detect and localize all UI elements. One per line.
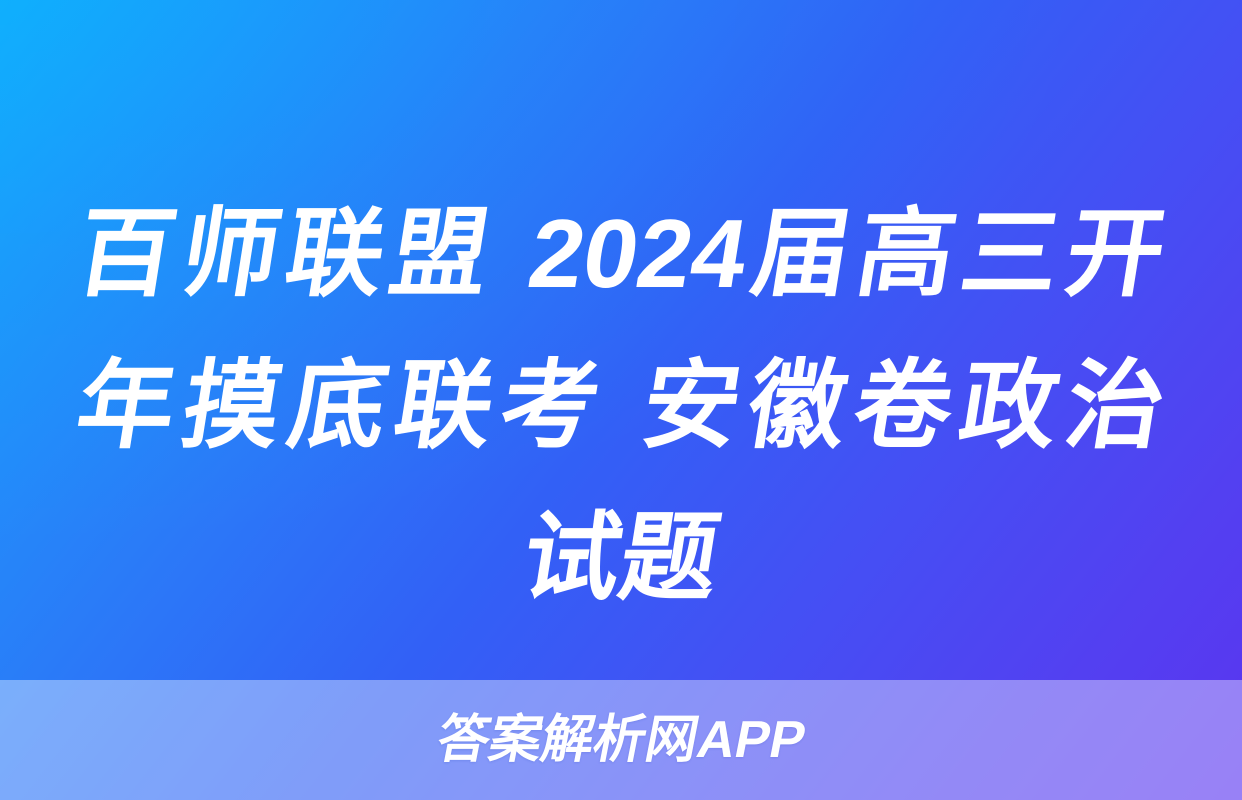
title-line-3: 试题 — [66, 482, 1176, 634]
exam-cover-card: 百师联盟 2024届高三开 年摸底联考 安徽卷政治 试题 答案解析网APP — [0, 0, 1242, 800]
title-line-1: 百师联盟 2024届高三开 — [66, 178, 1176, 330]
watermark-app-label: 答案解析网APP — [432, 714, 809, 766]
page-title: 百师联盟 2024届高三开 年摸底联考 安徽卷政治 试题 — [78, 178, 1164, 634]
watermark-band: 答案解析网APP — [0, 680, 1242, 800]
title-line-2: 年摸底联考 安徽卷政治 — [66, 330, 1176, 482]
